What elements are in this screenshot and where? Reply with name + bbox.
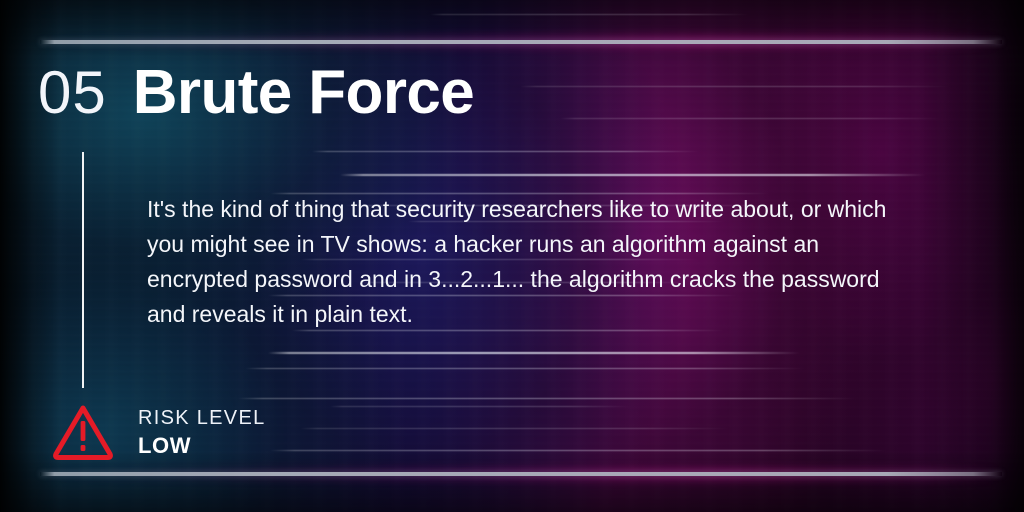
risk-text: RISK LEVEL LOW: [138, 408, 266, 457]
vertical-accent-rule: [82, 152, 84, 388]
body-paragraph: It's the kind of thing that security res…: [147, 192, 887, 332]
slide-number: 05: [38, 63, 107, 123]
slide-content: 05 Brute Force It's the kind of thing th…: [0, 0, 1024, 512]
risk-level-block: RISK LEVEL LOW: [52, 403, 266, 461]
page-title: Brute Force: [133, 62, 474, 124]
warning-triangle-icon: [52, 403, 114, 461]
slide-root: 05 Brute Force It's the kind of thing th…: [0, 0, 1024, 512]
body-copy: It's the kind of thing that security res…: [147, 192, 887, 332]
risk-level-label: RISK LEVEL: [138, 408, 266, 428]
headline: 05 Brute Force: [38, 62, 474, 124]
risk-level-value: LOW: [138, 435, 266, 457]
